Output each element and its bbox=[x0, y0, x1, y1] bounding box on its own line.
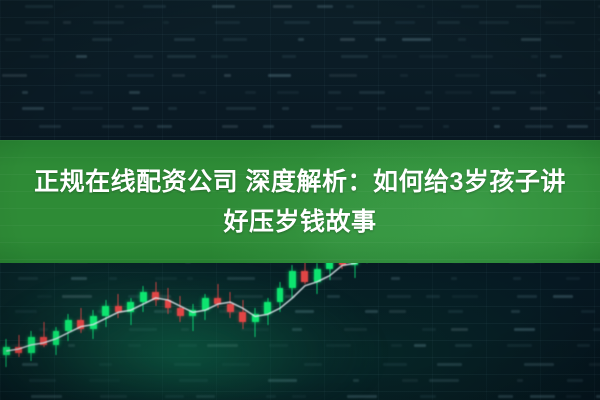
headline-line-1: 正规在线配资公司 深度解析：如何给3岁孩子讲 bbox=[20, 162, 580, 202]
headline-banner: 正规在线配资公司 深度解析：如何给3岁孩子讲 好压岁钱故事 bbox=[0, 140, 600, 263]
page-title: 正规在线配资公司 深度解析：如何给3岁孩子讲 好压岁钱故事 bbox=[20, 162, 580, 242]
banner-image: 正规在线配资公司 深度解析：如何给3岁孩子讲 好压岁钱故事 bbox=[0, 0, 600, 400]
headline-line-2: 好压岁钱故事 bbox=[20, 202, 580, 242]
